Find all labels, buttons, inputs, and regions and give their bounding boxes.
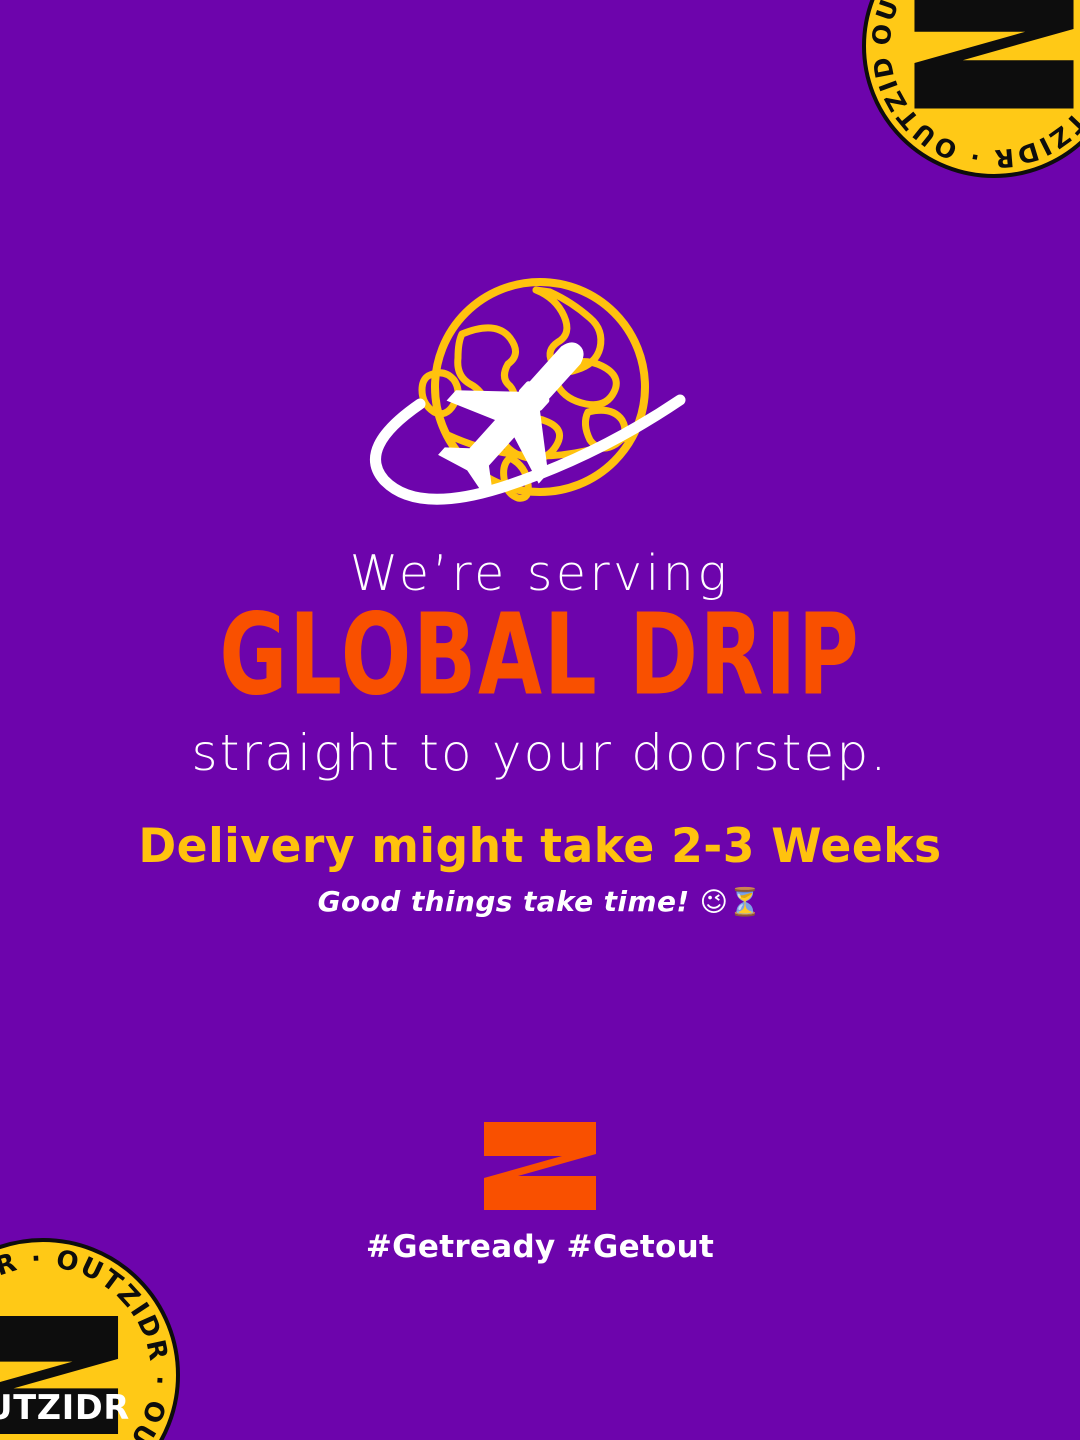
headline-block: We’re serving GLOBAL DRIP straight to yo… — [0, 548, 1080, 780]
delivery-time-text: Delivery might take 2-3 Weeks — [16, 822, 1064, 873]
delivery-notice: Delivery might take 2-3 Weeks Good thing… — [0, 822, 1080, 918]
doorstep-line: straight to your doorstep. — [0, 727, 1080, 780]
winking-face-icon: 😉 — [700, 887, 729, 918]
z-logo-icon — [478, 1120, 602, 1212]
hourglass-icon: ⏳ — [728, 887, 762, 918]
delivery-subtext-label: Good things take time! — [318, 885, 690, 918]
page-title: GLOBAL DRIP — [43, 600, 1037, 713]
outzidr-sticker-badge-top-right: OUTZIDR · OUTZIDR · OUTZIDR · OUTZIDR · — [860, 0, 1080, 180]
outzidr-sticker-badge-bottom-left: OUTZIDR · OUTZIDR · OUTZIDR · OUTZIDR · … — [0, 1236, 182, 1440]
promo-poster: We’re serving GLOBAL DRIP straight to yo… — [0, 0, 1080, 1440]
globe-with-airplane-icon — [350, 272, 730, 522]
delivery-subtext: Good things take time! 😉⏳ — [0, 887, 1080, 918]
badge-wordmark: OUTZIDR — [0, 1388, 130, 1427]
